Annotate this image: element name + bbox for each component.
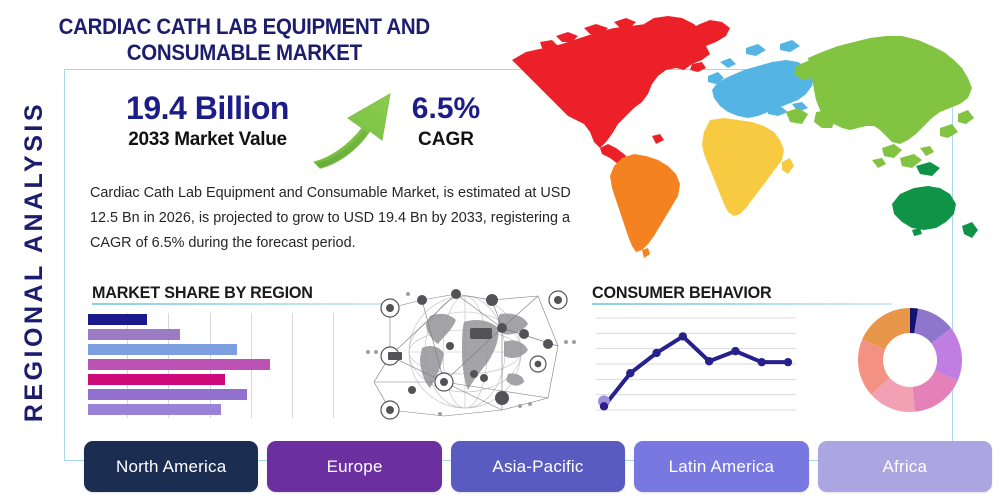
regional-analysis-side-label: REGIONAL ANALYSIS	[8, 62, 60, 462]
line-point-2	[626, 369, 634, 377]
bar-gridline	[292, 313, 293, 418]
region-button-label: Africa	[883, 457, 928, 477]
map-region-south-america	[610, 154, 680, 258]
bar-row	[88, 344, 237, 355]
line-point-5	[705, 357, 713, 365]
regional-split-donut-chart	[858, 308, 962, 412]
line-point-8	[784, 358, 792, 366]
section-heading-consumer-behavior: CONSUMER BEHAVIOR	[592, 283, 772, 303]
map-region-north-america	[512, 16, 730, 166]
region-button-label: North America	[116, 457, 226, 477]
region-button-label: Latin America	[669, 457, 775, 477]
market-value: 19.4 Billion	[100, 88, 315, 128]
line-point-6	[731, 347, 739, 355]
region-button-africa[interactable]: Africa	[818, 441, 992, 492]
bar-row	[88, 329, 180, 340]
map-region-europe	[708, 40, 814, 118]
region-button-north-america[interactable]: North America	[84, 441, 258, 492]
cagr-block: 6.5% CAGR	[391, 90, 501, 151]
bar-5	[88, 374, 225, 385]
bar-3	[88, 344, 237, 355]
market-value-block: 19.4 Billion 2033 Market Value	[100, 88, 315, 152]
cagr-label: CAGR	[391, 128, 501, 151]
market-value-label: 2033 Market Value	[100, 128, 315, 152]
description-paragraph: Cardiac Cath Lab Equipment and Consumabl…	[90, 181, 590, 256]
line-point-3	[652, 349, 660, 357]
bar-row	[88, 404, 221, 415]
side-label-text: REGIONAL ANALYSIS	[20, 101, 49, 422]
region-button-asia-pacific[interactable]: Asia-Pacific	[451, 441, 625, 492]
bar-row	[88, 314, 147, 325]
region-button-europe[interactable]: Europe	[267, 441, 441, 492]
global-network-globe-icon	[352, 286, 578, 422]
bar-7	[88, 404, 221, 415]
region-button-label: Europe	[327, 457, 383, 477]
kpi-row: 19.4 Billion 2033 Market Value 6.5% CAGR	[86, 88, 506, 168]
line-point-7	[758, 358, 766, 366]
section-rule-consumer-behavior	[592, 303, 892, 305]
bar-gridline	[333, 313, 334, 418]
bar-row	[88, 374, 225, 385]
bar-row	[88, 359, 270, 370]
region-button-label: Asia-Pacific	[492, 457, 583, 477]
region-buttons-row: North AmericaEuropeAsia-PacificLatin Ame…	[84, 441, 992, 492]
page-title: CARDIAC CATH LAB EQUIPMENT AND CONSUMABL…	[22, 14, 467, 66]
cagr-value: 6.5%	[391, 90, 501, 128]
line-point-4	[679, 332, 687, 340]
bar-1	[88, 314, 147, 325]
section-rule-market-share	[92, 303, 392, 305]
map-region-africa	[702, 118, 794, 216]
map-region-oceania	[892, 162, 978, 238]
region-button-latin-america[interactable]: Latin America	[634, 441, 808, 492]
map-region-asia	[786, 36, 974, 168]
market-share-bar-chart	[88, 313, 333, 418]
section-heading-market-share: MARKET SHARE BY REGION	[92, 283, 313, 303]
consumer-behavior-line-chart	[596, 310, 796, 420]
bar-6	[88, 389, 247, 400]
line-point-1	[600, 402, 608, 410]
growth-arrow-icon	[308, 84, 400, 170]
bar-4	[88, 359, 270, 370]
bar-row	[88, 389, 247, 400]
bar-2	[88, 329, 180, 340]
